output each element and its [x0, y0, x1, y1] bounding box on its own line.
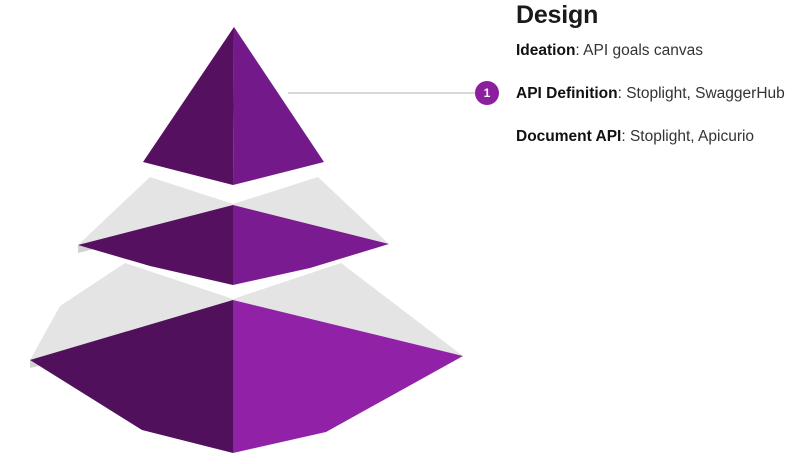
item-term-ideation: Ideation [516, 42, 575, 59]
callout-leader-line [288, 92, 476, 94]
pyramid-graphic [0, 0, 516, 459]
text-panel: Design Ideation: API goals canvas API De… [516, 0, 800, 459]
pyramid-face-top-left [143, 27, 234, 185]
callout-badge-1[interactable]: 1 [475, 81, 499, 105]
item-term-api-definition: API Definition [516, 85, 618, 102]
item-desc-api-definition: : Stoplight, SwaggerHub [618, 85, 785, 102]
pyramid-svg [0, 0, 516, 459]
item-desc-document-api: : Stoplight, Apicurio [621, 128, 754, 145]
list-item: Ideation: API goals canvas [516, 41, 800, 60]
pyramid-face-top-right [233, 27, 324, 185]
page-title: Design [516, 0, 598, 30]
item-desc-ideation: : API goals canvas [575, 42, 703, 59]
pyramid-infographic: 1 Design Ideation: API goals canvas API … [0, 0, 800, 459]
design-item-list: Ideation: API goals canvas API Definitio… [516, 41, 800, 146]
item-term-document-api: Document API [516, 128, 621, 145]
list-item: API Definition: Stoplight, SwaggerHub [516, 84, 800, 103]
list-item: Document API: Stoplight, Apicurio [516, 127, 800, 146]
